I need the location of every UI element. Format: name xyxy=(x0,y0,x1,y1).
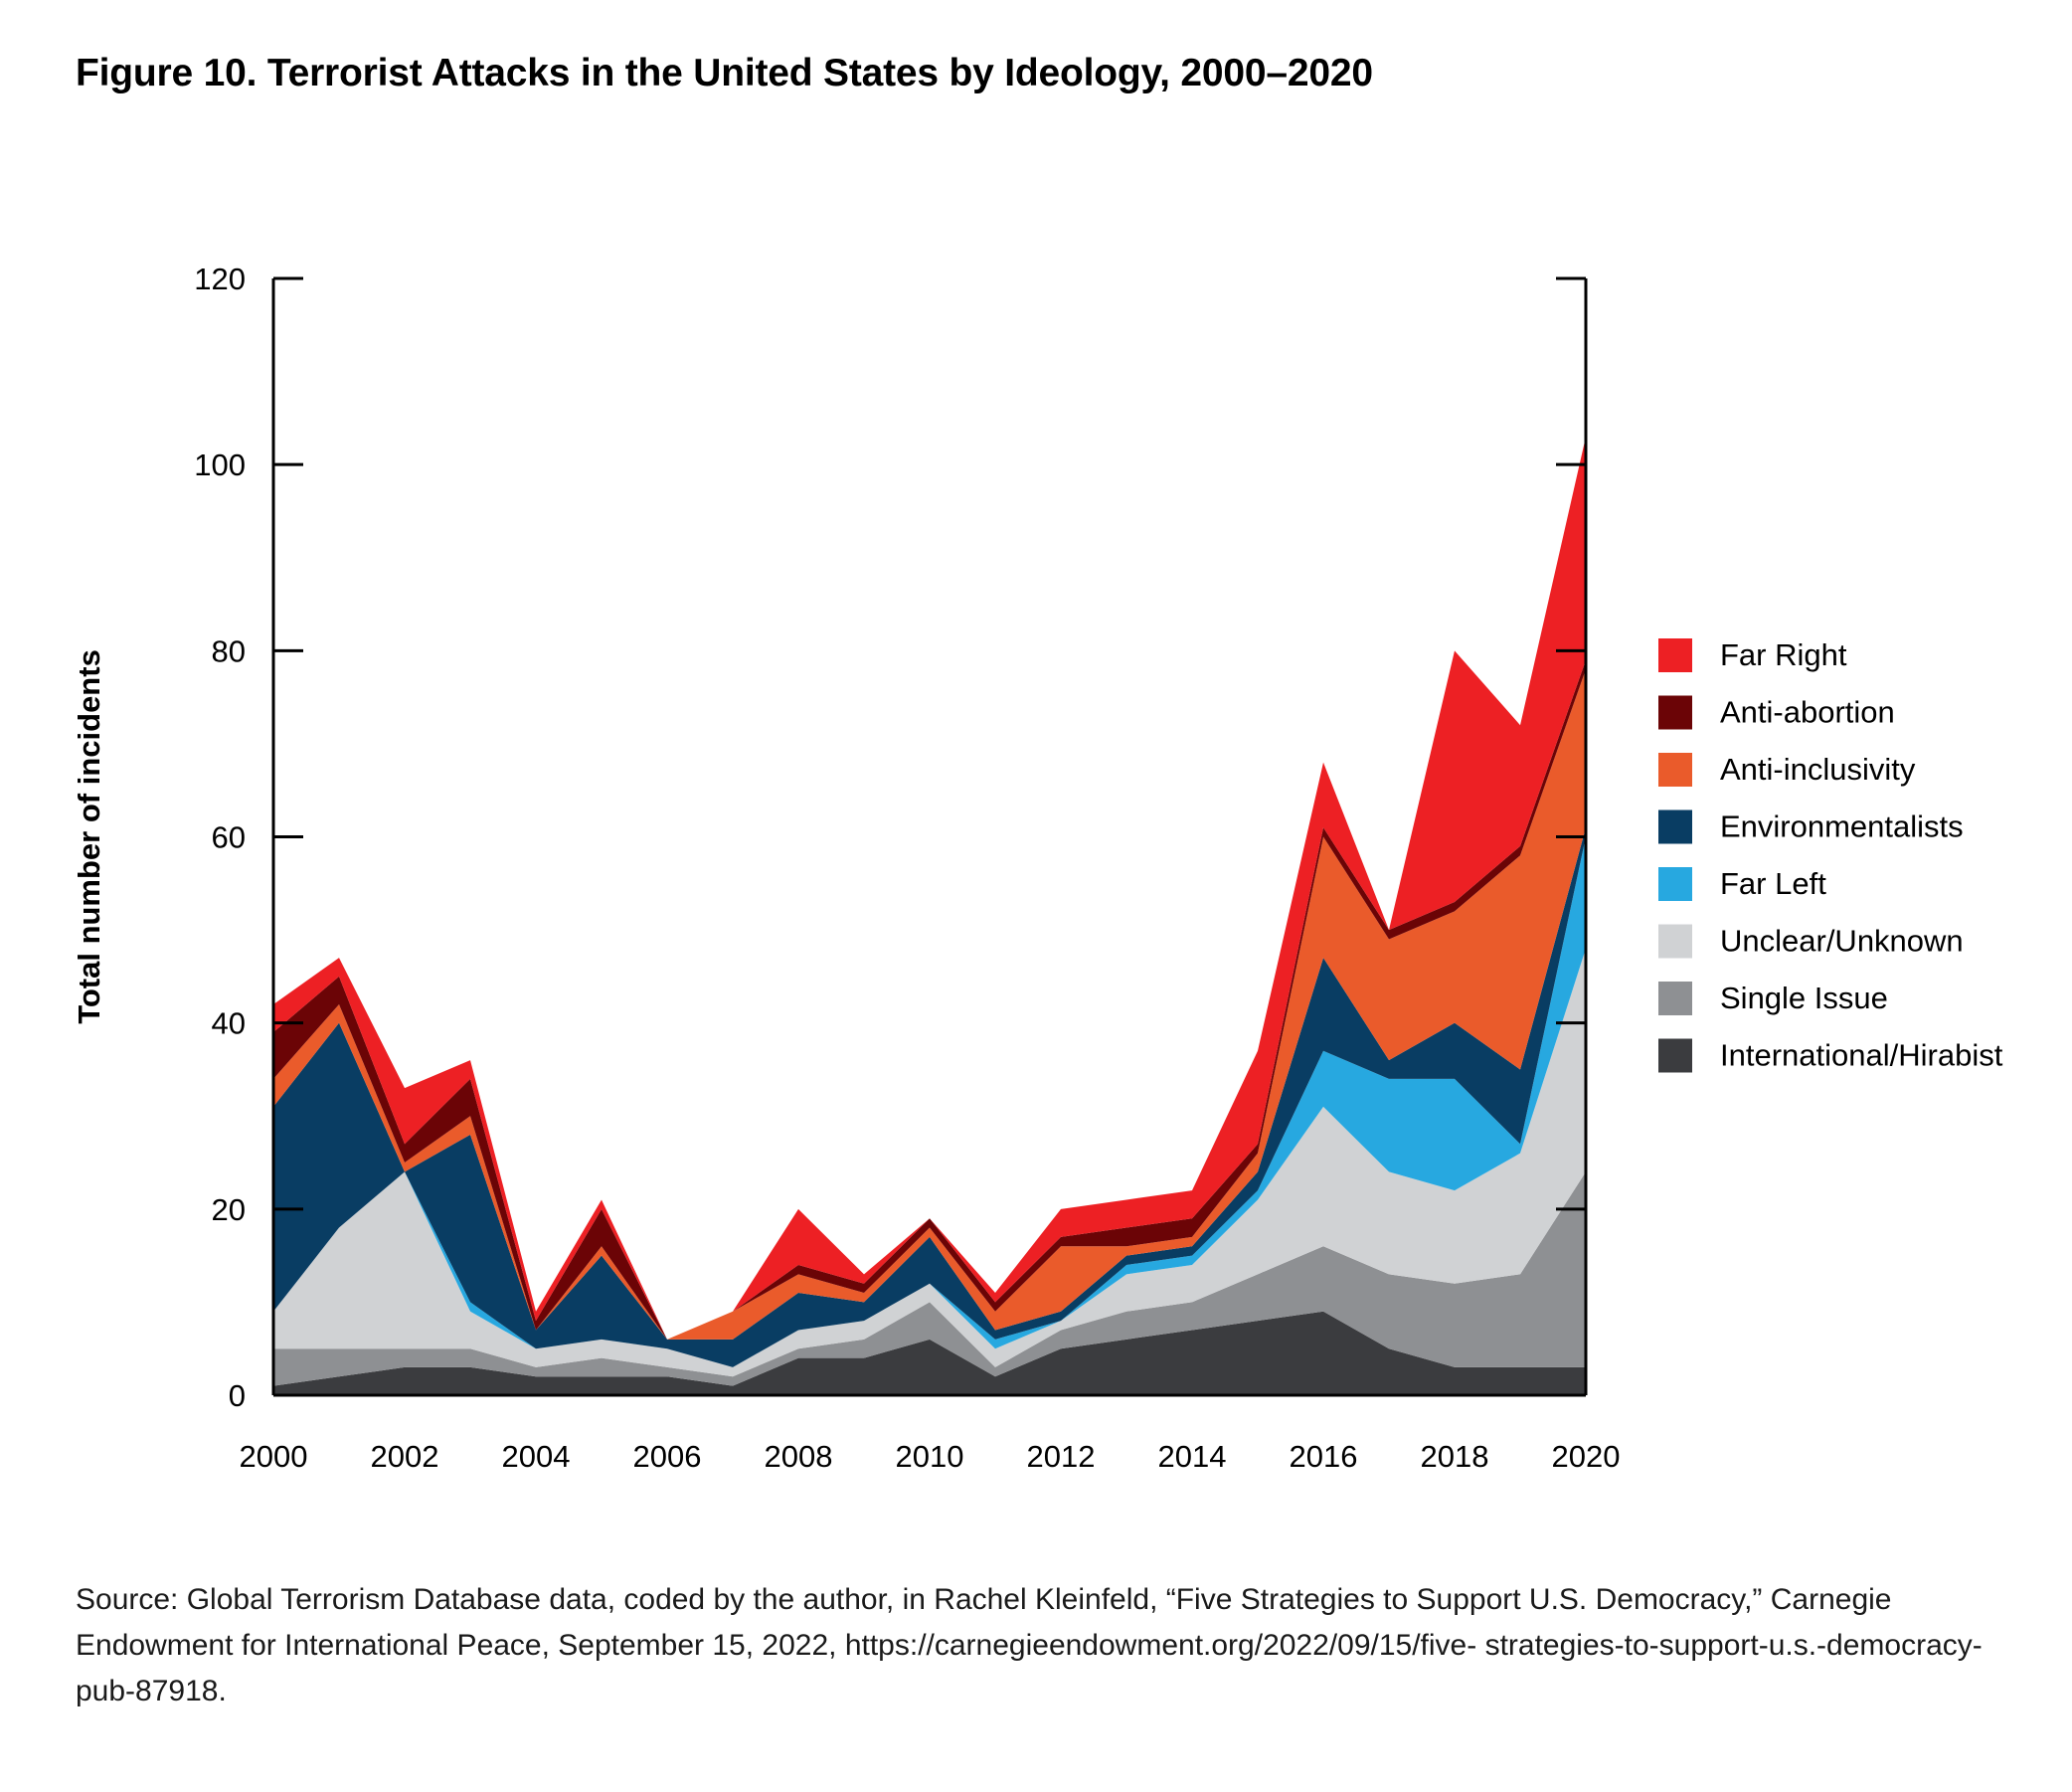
x-tick-label: 2000 xyxy=(240,1439,308,1474)
x-tick-label: 2014 xyxy=(1158,1439,1227,1474)
x-tick-label: 2006 xyxy=(633,1439,702,1474)
y-tick-labels: 020406080100120 xyxy=(194,262,246,1413)
legend-label: Unclear/Unknown xyxy=(1720,924,1964,959)
page-title: Figure 10. Terrorist Attacks in the Unit… xyxy=(76,52,1373,95)
y-tick-label: 100 xyxy=(194,448,246,482)
legend-item[interactable]: Single Issue xyxy=(1658,981,1888,1015)
y-tick-label: 0 xyxy=(229,1378,246,1413)
source-line-1: Source: Global Terrorism Database data, … xyxy=(76,1583,1762,1616)
figure-page: Figure 10. Terrorist Attacks in the Unit… xyxy=(0,0,2072,1792)
chart-container: 020406080100120 200020022004200620082010… xyxy=(0,189,2072,1512)
legend-label: Far Left xyxy=(1720,866,1826,901)
legend-swatch-icon xyxy=(1658,638,1692,672)
legend-swatch-icon xyxy=(1658,1039,1692,1073)
legend-label: Anti-inclusivity xyxy=(1720,752,1916,787)
legend-swatch-icon xyxy=(1658,696,1692,730)
source-note: Source: Global Terrorism Database data, … xyxy=(76,1577,2004,1714)
x-tick-labels: 2000200220042006200820102012201420162018… xyxy=(240,1439,1621,1474)
x-tick-label: 2018 xyxy=(1421,1439,1489,1474)
y-tick-label: 20 xyxy=(212,1192,246,1227)
x-tick-label: 2004 xyxy=(502,1439,571,1474)
legend-label: Anti-abortion xyxy=(1720,695,1895,730)
y-tick-label: 40 xyxy=(212,1006,246,1041)
y-tick-label: 80 xyxy=(212,633,246,668)
legend-item[interactable]: Anti-abortion xyxy=(1658,695,1895,730)
legend-item[interactable]: Unclear/Unknown xyxy=(1658,924,1964,959)
legend-swatch-icon xyxy=(1658,925,1692,959)
x-tick-label: 2016 xyxy=(1290,1439,1358,1474)
legend-label: International/Hirabist xyxy=(1720,1038,2003,1073)
y-tick-label: 120 xyxy=(194,262,246,296)
legend-item[interactable]: Far Left xyxy=(1658,866,1826,901)
legend-swatch-icon xyxy=(1658,753,1692,787)
x-tick-label: 2010 xyxy=(896,1439,964,1474)
legend-item[interactable]: Anti-inclusivity xyxy=(1658,752,1916,787)
stacked-area-chart: 020406080100120 200020022004200620082010… xyxy=(0,189,2072,1512)
legend-label: Far Right xyxy=(1720,637,1847,672)
legend-item[interactable]: Far Right xyxy=(1658,637,1847,672)
x-tick-label: 2008 xyxy=(765,1439,833,1474)
chart-legend: Far RightAnti-abortionAnti-inclusivityEn… xyxy=(1658,637,2003,1073)
legend-label: Environmentalists xyxy=(1720,809,1964,844)
chart-areas xyxy=(273,437,1586,1395)
x-tick-label: 2012 xyxy=(1027,1439,1096,1474)
legend-swatch-icon xyxy=(1658,867,1692,901)
y-axis-title: Total number of incidents xyxy=(72,649,106,1024)
legend-item[interactable]: Environmentalists xyxy=(1658,809,1964,844)
y-tick-label: 60 xyxy=(212,820,246,855)
legend-item[interactable]: International/Hirabist xyxy=(1658,1038,2003,1073)
x-tick-label: 2020 xyxy=(1552,1439,1621,1474)
y-axis-title-text: Total number of incidents xyxy=(72,649,106,1024)
legend-label: Single Issue xyxy=(1720,981,1888,1015)
x-tick-label: 2002 xyxy=(371,1439,439,1474)
legend-swatch-icon xyxy=(1658,810,1692,844)
legend-swatch-icon xyxy=(1658,982,1692,1015)
